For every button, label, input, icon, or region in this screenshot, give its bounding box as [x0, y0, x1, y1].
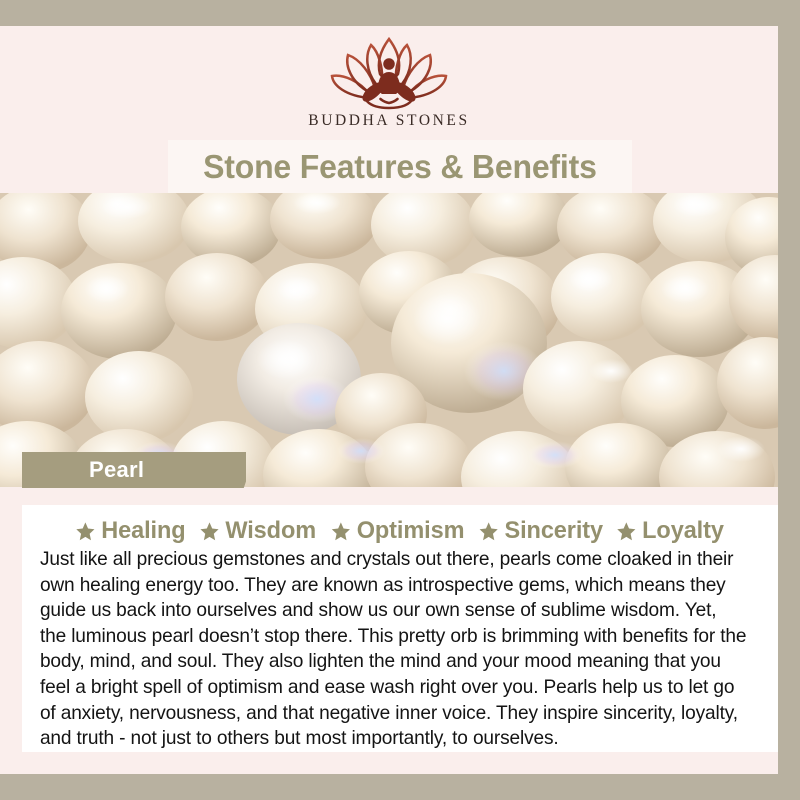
stone-description: Just like all precious gemstones and cry…	[36, 547, 753, 752]
corner-wedge-bottom-right	[569, 774, 595, 800]
star-icon	[330, 521, 350, 542]
benefit-label: Sincerity	[504, 517, 602, 545]
benefit-item-optimism: Optimism	[330, 517, 464, 545]
brand-name: BUDDHA STONES	[308, 112, 469, 130]
star-icon	[478, 521, 498, 542]
pearls-photo	[0, 193, 778, 487]
benefit-label: Healing	[102, 517, 186, 545]
corner-wedge-top-left	[205, 0, 231, 26]
page-title-banner: Stone Features & Benefits	[168, 140, 632, 193]
benefit-item-sincerity: Sincerity	[478, 517, 602, 545]
stone-name-bar: Pearl	[22, 452, 246, 488]
panel-top-strip	[22, 487, 778, 505]
benefit-item-loyalty: Loyalty	[617, 517, 725, 545]
benefit-item-wisdom: Wisdom	[200, 517, 317, 545]
brand-header: BUDDHA STONES	[0, 26, 778, 140]
benefits-list: Healing Wisdom Optimism	[36, 517, 764, 545]
star-icon	[76, 521, 96, 542]
page-title: Stone Features & Benefits	[203, 148, 597, 186]
star-icon	[200, 521, 220, 542]
stone-name-label: Pearl	[89, 457, 144, 483]
star-icon	[617, 521, 637, 542]
content-panel: Healing Wisdom Optimism	[22, 505, 778, 752]
benefit-label: Optimism	[356, 517, 464, 545]
benefit-label: Loyalty	[643, 517, 725, 545]
lotus-meditation-figure-icon	[314, 32, 464, 110]
benefit-label: Wisdom	[226, 517, 317, 545]
benefit-item-healing: Healing	[76, 517, 186, 545]
stone-benefits-poster: BUDDHA STONES	[0, 0, 800, 800]
